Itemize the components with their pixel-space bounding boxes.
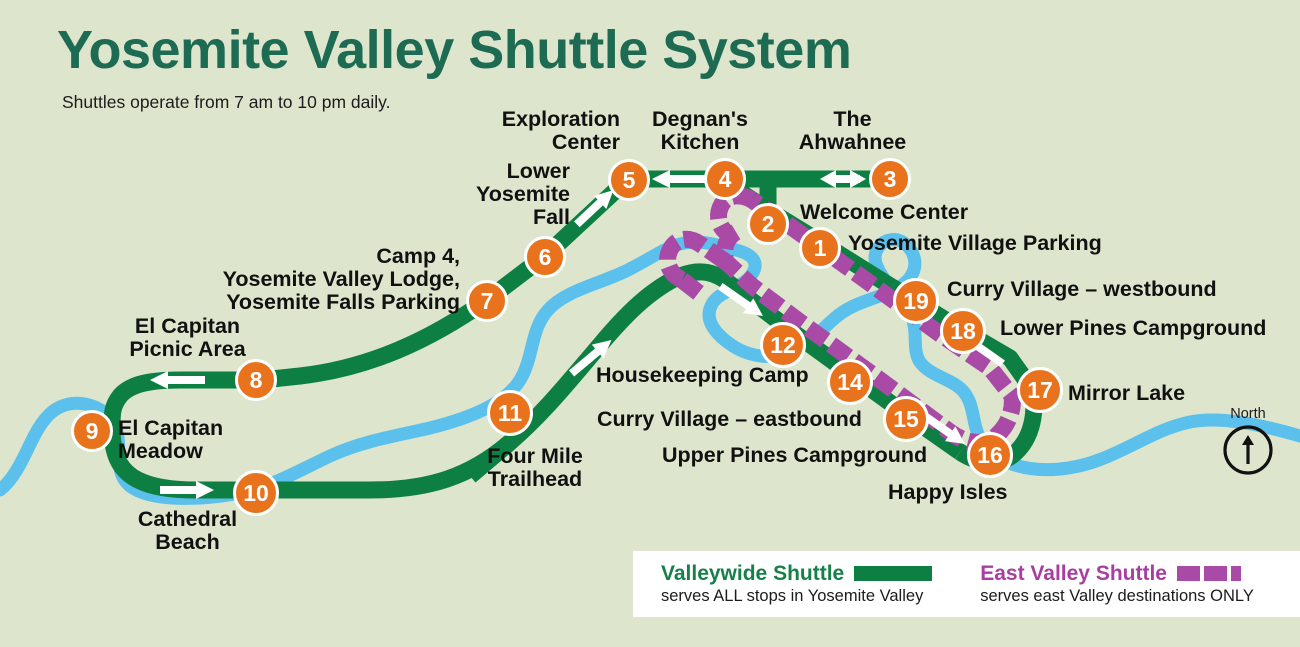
stop-marker-12[interactable]: 12 [760, 322, 806, 368]
map-legend: Valleywide Shuttle serves ALL stops in Y… [633, 551, 1300, 617]
stop-marker-9[interactable]: 9 [71, 410, 113, 452]
stop-marker-10[interactable]: 10 [233, 470, 279, 516]
label-elcapitan-picnic-area: El Capitan Picnic Area [80, 315, 295, 361]
stop-marker-7[interactable]: 7 [466, 280, 508, 322]
legend-east-valley-swatch [1177, 566, 1241, 581]
label-four-mile-trailhead: Four Mile Trailhead [455, 445, 615, 491]
north-arrow-icon [1222, 424, 1274, 476]
legend-east-valley-title: East Valley Shuttle [980, 563, 1167, 584]
label-upper-pines-campground: Upper Pines Campground [662, 444, 927, 467]
shuttle-map: Yosemite Valley Shuttle System Shuttles … [0, 0, 1300, 647]
label-housekeeping-camp: Housekeeping Camp [596, 364, 809, 387]
legend-east-valley: East Valley Shuttle serves east Valley d… [932, 563, 1254, 605]
legend-valleywide-title: Valleywide Shuttle [661, 563, 844, 584]
stop-marker-19[interactable]: 19 [893, 278, 939, 324]
stop-marker-18[interactable]: 18 [940, 308, 986, 354]
stop-marker-11[interactable]: 11 [487, 390, 533, 436]
label-yosemite-village-parking: Yosemite Village Parking [848, 232, 1102, 255]
label-elcapitan-meadow: El Capitan Meadow [118, 417, 223, 463]
stop-marker-3[interactable]: 3 [869, 158, 911, 200]
label-mirror-lake: Mirror Lake [1068, 382, 1185, 405]
label-curry-village-eastbound: Curry Village – eastbound [597, 408, 862, 431]
legend-east-valley-subtitle: serves east Valley destinations ONLY [980, 588, 1254, 605]
stop-marker-4[interactable]: 4 [704, 158, 746, 200]
stop-marker-15[interactable]: 15 [883, 396, 929, 442]
arrow-southeast-ridge [715, 279, 768, 324]
compass: North [1222, 406, 1274, 481]
stop-marker-2[interactable]: 2 [747, 203, 789, 245]
arrow-west-elcapitan [150, 371, 205, 389]
arrow-west-degnans [652, 170, 705, 188]
legend-valleywide-subtitle: serves ALL stops in Yosemite Valley [661, 588, 932, 605]
label-lower-pines-campground: Lower Pines Campground [1000, 317, 1266, 340]
legend-valleywide-swatch [854, 566, 932, 581]
stop-marker-5[interactable]: 5 [608, 159, 650, 201]
arrow-bidirectional-ahwahnee [820, 170, 866, 188]
stop-marker-17[interactable]: 17 [1017, 367, 1063, 413]
label-the-ahwahnee: The Ahwahnee [755, 108, 950, 154]
arrow-east-cathedral [160, 481, 214, 499]
label-lower-yosemite-fall: Lower Yosemite Fall [400, 160, 570, 228]
page-subtitle: Shuttles operate from 7 am to 10 pm dail… [62, 92, 390, 113]
stop-marker-16[interactable]: 16 [967, 432, 1013, 478]
label-curry-village-westbound: Curry Village – westbound [947, 278, 1217, 301]
label-happy-isles: Happy Isles [888, 481, 1008, 504]
stop-marker-6[interactable]: 6 [524, 236, 566, 278]
legend-valleywide: Valleywide Shuttle serves ALL stops in Y… [633, 563, 932, 605]
stop-marker-1[interactable]: 1 [799, 227, 841, 269]
stop-marker-8[interactable]: 8 [235, 359, 277, 401]
page-title: Yosemite Valley Shuttle System [57, 22, 851, 79]
stop-marker-14[interactable]: 14 [827, 359, 873, 405]
compass-label: North [1222, 406, 1274, 422]
label-welcome-center: Welcome Center [800, 201, 968, 224]
label-camp4-lodge-parking: Camp 4, Yosemite Valley Lodge, Yosemite … [130, 245, 460, 313]
label-exploration-center: Exploration Center [370, 108, 620, 154]
